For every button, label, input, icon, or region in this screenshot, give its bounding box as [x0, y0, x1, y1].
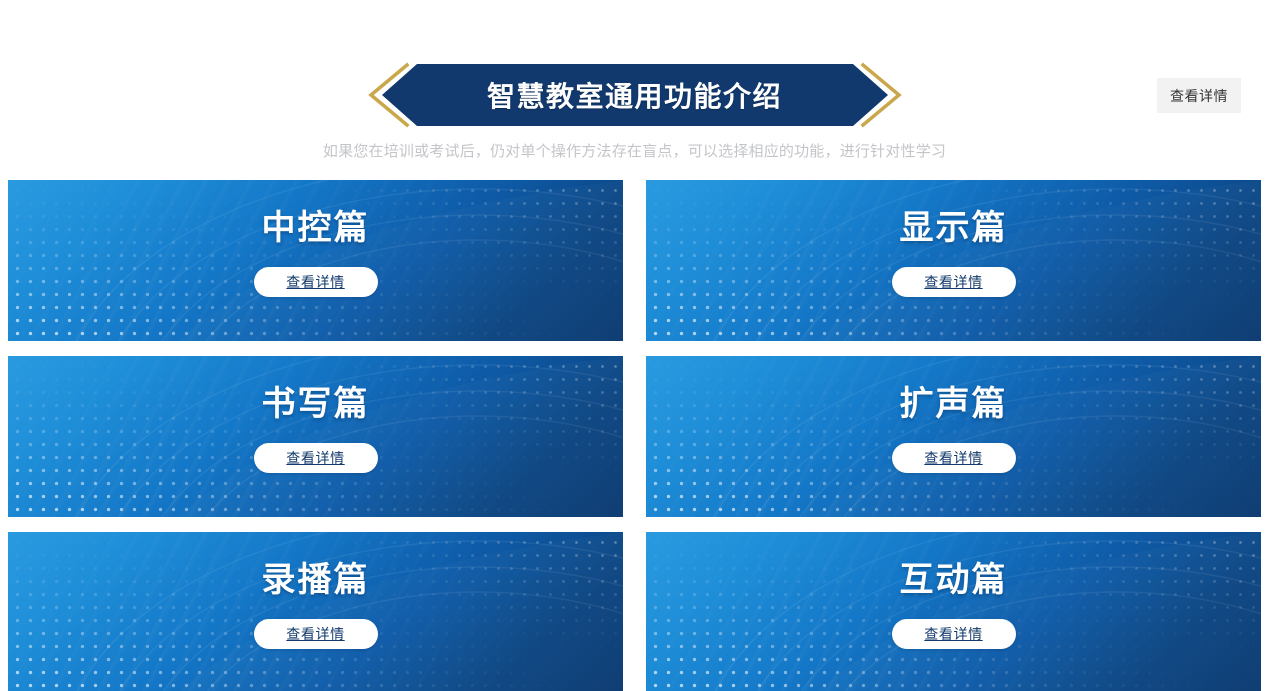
- feature-card-display[interactable]: 显示篇 查看详情: [646, 180, 1261, 341]
- page-header: 智慧教室通用功能介绍 如果您在培训或考试后，仍对单个操作方法存在盲点，可以选择相…: [0, 0, 1269, 176]
- feature-card-grid: 中控篇 查看详情 显示篇: [8, 180, 1261, 691]
- card-view-detail-button[interactable]: 查看详情: [892, 267, 1016, 297]
- feature-card-writing[interactable]: 书写篇 查看详情: [8, 356, 623, 517]
- feature-card-interaction[interactable]: 互动篇 查看详情: [646, 532, 1261, 691]
- card-title: 录播篇: [262, 561, 370, 599]
- card-title: 互动篇: [900, 561, 1008, 599]
- card-view-detail-button[interactable]: 查看详情: [254, 443, 378, 473]
- card-view-detail-button[interactable]: 查看详情: [892, 443, 1016, 473]
- feature-card-sound[interactable]: 扩声篇 查看详情: [646, 356, 1261, 517]
- card-view-detail-button[interactable]: 查看详情: [892, 619, 1016, 649]
- card-view-detail-button[interactable]: 查看详情: [254, 267, 378, 297]
- top-view-detail-button[interactable]: 查看详情: [1157, 78, 1241, 113]
- card-view-detail-button[interactable]: 查看详情: [254, 619, 378, 649]
- feature-card-recording[interactable]: 录播篇 查看详情: [8, 532, 623, 691]
- card-title: 显示篇: [900, 209, 1008, 247]
- page-subtitle: 如果您在培训或考试后，仍对单个操作方法存在盲点，可以选择相应的功能，进行针对性学…: [0, 140, 1269, 161]
- page-title: 智慧教室通用功能介绍: [487, 75, 782, 115]
- card-title: 扩声篇: [900, 385, 1008, 423]
- card-title: 中控篇: [262, 209, 370, 247]
- card-title: 书写篇: [262, 385, 370, 423]
- feature-card-central-control[interactable]: 中控篇 查看详情: [8, 180, 623, 341]
- title-banner: 智慧教室通用功能介绍: [0, 62, 1269, 128]
- page-root: 智慧教室通用功能介绍 如果您在培训或考试后，仍对单个操作方法存在盲点，可以选择相…: [0, 0, 1269, 691]
